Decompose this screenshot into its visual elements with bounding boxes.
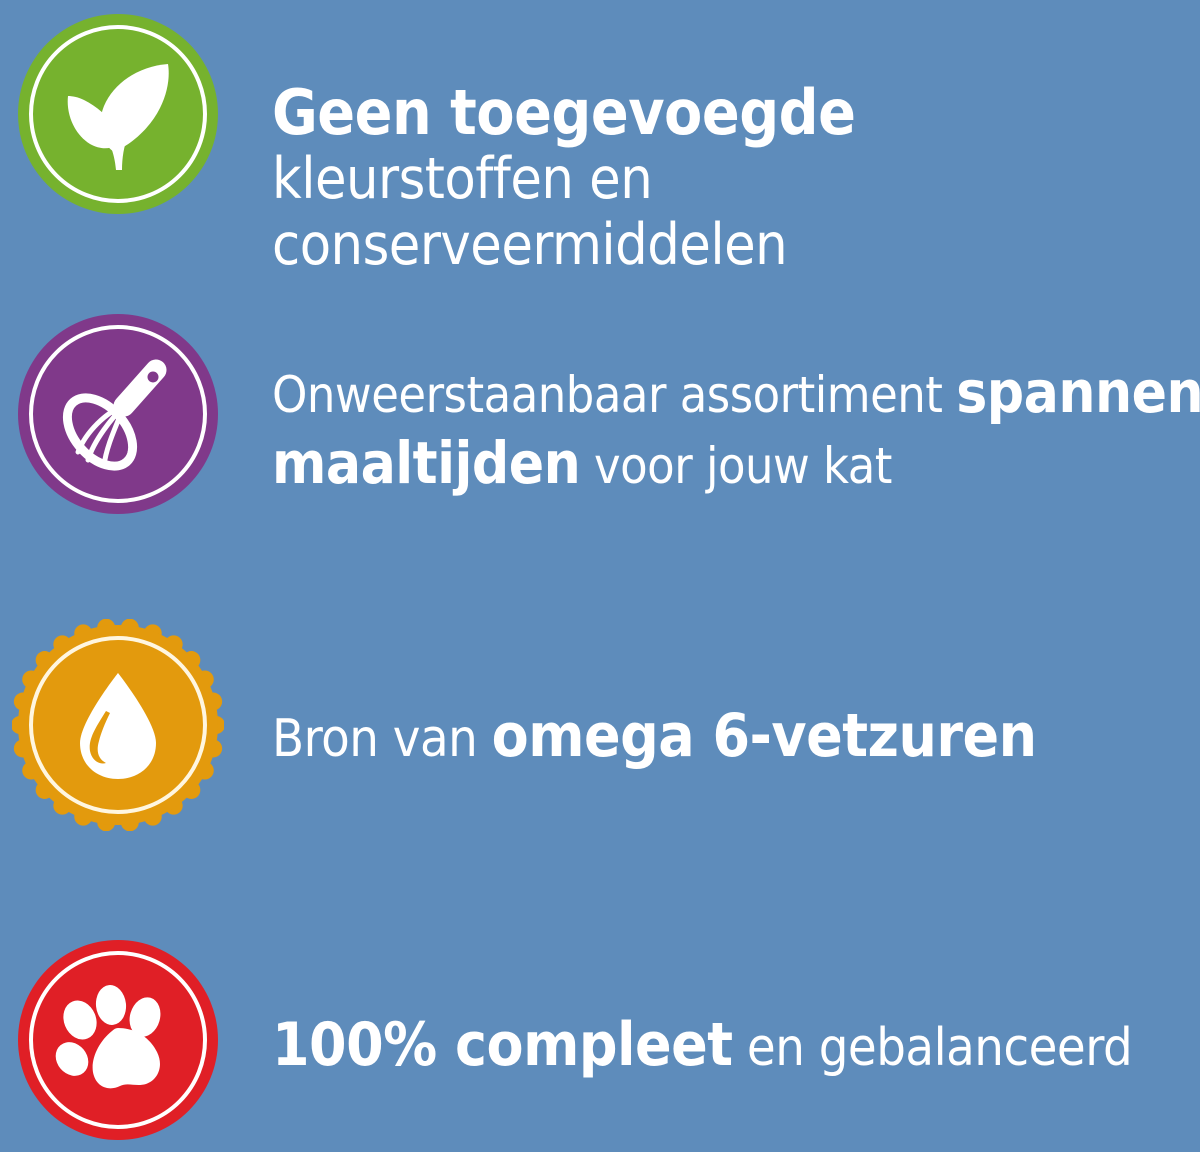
feature-text-normal-2: conserveermiddelen xyxy=(272,212,787,278)
water-drop-icon xyxy=(18,625,218,825)
feature-text-omega-6: Bron van omega 6-vetzuren xyxy=(272,703,1200,770)
feature-text-normal: kleurstoffen en xyxy=(272,146,652,212)
whisk-icon xyxy=(18,314,218,514)
feature-text-strong: spannende xyxy=(956,358,1200,426)
feature-text-complete-balanced: 100% compleet en gebalanceerd xyxy=(272,1012,1200,1079)
feature-text-normal: Bron van xyxy=(272,709,492,769)
feature-text-strong: 100% compleet xyxy=(272,1010,733,1080)
badge-red xyxy=(12,934,224,1146)
feature-text-normal: en gebalanceerd xyxy=(733,1018,1133,1078)
feature-text-normal: Onweerstaanbaar assortiment xyxy=(272,366,956,424)
paw-print-icon xyxy=(18,940,218,1140)
feature-item-omega-6: Bron van omega 6-vetzuren xyxy=(0,615,1200,915)
feature-item-no-added-colours: Geen toegevoegde kleurstoffen en conserv… xyxy=(0,0,1200,290)
badge-circle-purple xyxy=(18,314,218,514)
badge-circle-red xyxy=(18,940,218,1140)
feature-text-strong: omega 6-vetzuren xyxy=(492,701,1037,771)
badge-purple xyxy=(12,308,224,520)
feature-text-no-added-colours: Geen toegevoegde kleurstoffen en conserv… xyxy=(272,78,1152,277)
badge-green xyxy=(12,8,224,220)
feature-list: Geen toegevoegde kleurstoffen en conserv… xyxy=(0,0,1200,1152)
leaf-icon xyxy=(18,14,218,214)
feature-text-strong: Geen toegevoegde xyxy=(272,76,855,149)
badge-circle-orange xyxy=(18,625,218,825)
feature-text-exciting-meals: Onweerstaanbaar assortiment spannende ma… xyxy=(272,360,1200,496)
feature-item-exciting-meals: Onweerstaanbaar assortiment spannende ma… xyxy=(0,300,1200,600)
feature-text-normal-2: voor jouw kat xyxy=(580,437,892,495)
feature-item-complete-balanced: 100% compleet en gebalanceerd xyxy=(0,928,1200,1152)
badge-circle-green xyxy=(18,14,218,214)
badge-orange xyxy=(12,619,224,831)
feature-text-strong-2: maaltijden xyxy=(272,429,580,497)
